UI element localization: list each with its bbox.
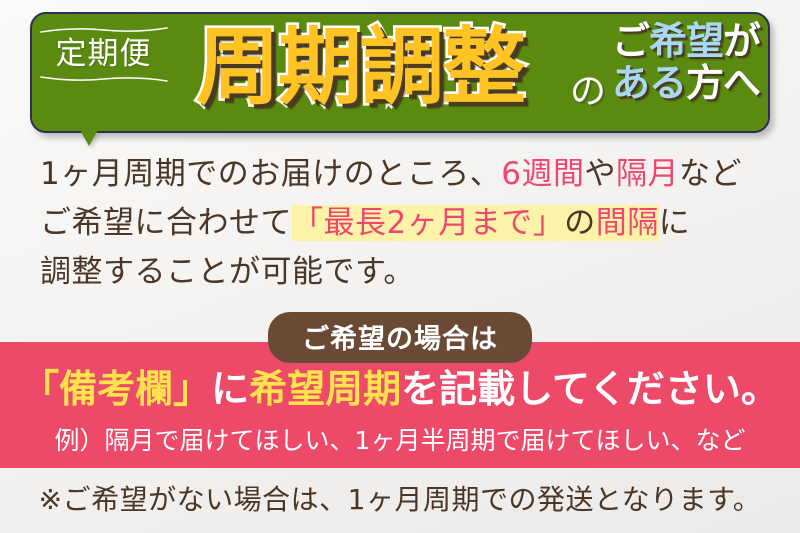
- target-audience-text: ご希望が ある方へ: [612, 22, 772, 102]
- speech-bubble-tail: [80, 130, 98, 146]
- instruction-example: 例）隔月で届けてほしい、1ヶ月半周期で届けてほしい、など: [0, 428, 800, 453]
- desc-text-4: ご希望に合わせて: [40, 205, 292, 241]
- instruction-keyword: 希望周期: [249, 367, 401, 411]
- target-audience-line-1: ご希望が: [612, 22, 772, 60]
- desc-highlight-interval: 間隔: [596, 205, 659, 241]
- wavy-line-bottom-icon: [40, 74, 168, 83]
- audience-prefix: ご: [612, 19, 649, 63]
- desc-text-1: 1ヶ月周期でのお届けのところ、: [40, 156, 501, 192]
- desc-text-2: や: [584, 156, 616, 192]
- subscription-badge: 定期便: [36, 26, 171, 83]
- audience-verb: ある: [612, 61, 686, 105]
- wavy-line-top-icon: [40, 26, 168, 35]
- description-line-1: 1ヶ月周期でのお届けのところ、6週間や隔月など: [40, 150, 770, 199]
- desc-text-5: の: [564, 205, 596, 241]
- audience-keyword: 希望: [649, 19, 723, 63]
- instruction-action: を記載してください。: [401, 367, 779, 411]
- audience-suffix: 方へ: [686, 61, 760, 105]
- request-pill-container: ご希望の場合は: [0, 312, 800, 363]
- footer-note: ※ご希望がない場合は、1ヶ月周期での発送となります。: [0, 478, 800, 518]
- subscription-badge-label: 定期便: [36, 35, 171, 74]
- request-pill-label: ご希望の場合は: [268, 312, 532, 363]
- target-audience-line-2: ある方へ: [612, 64, 772, 102]
- desc-text-6: に: [659, 205, 691, 241]
- audience-particle: が: [723, 19, 760, 63]
- description-line-3: 調整することが可能です。: [40, 248, 770, 297]
- desc-highlight-max-period: 「最長2ヶ月まで」: [292, 205, 564, 241]
- instruction-field-name: 「備考欄」: [21, 367, 211, 411]
- desc-highlight-bimonthly: 隔月: [616, 156, 679, 192]
- description-line-2: ご希望に合わせて「最長2ヶ月まで」の間隔に: [40, 199, 770, 248]
- title-particle: の: [570, 62, 606, 114]
- desc-text-3: など: [679, 156, 742, 192]
- instruction-headline: 「備考欄」に希望周期を記載してください。: [0, 370, 800, 408]
- description-paragraph: 1ヶ月周期でのお届けのところ、6週間や隔月など ご希望に合わせて「最長2ヶ月まで…: [40, 150, 770, 297]
- desc-highlight-six-weeks: 6週間: [501, 156, 584, 192]
- instruction-particle: に: [211, 367, 249, 411]
- page-title: 周期調整: [196, 18, 524, 117]
